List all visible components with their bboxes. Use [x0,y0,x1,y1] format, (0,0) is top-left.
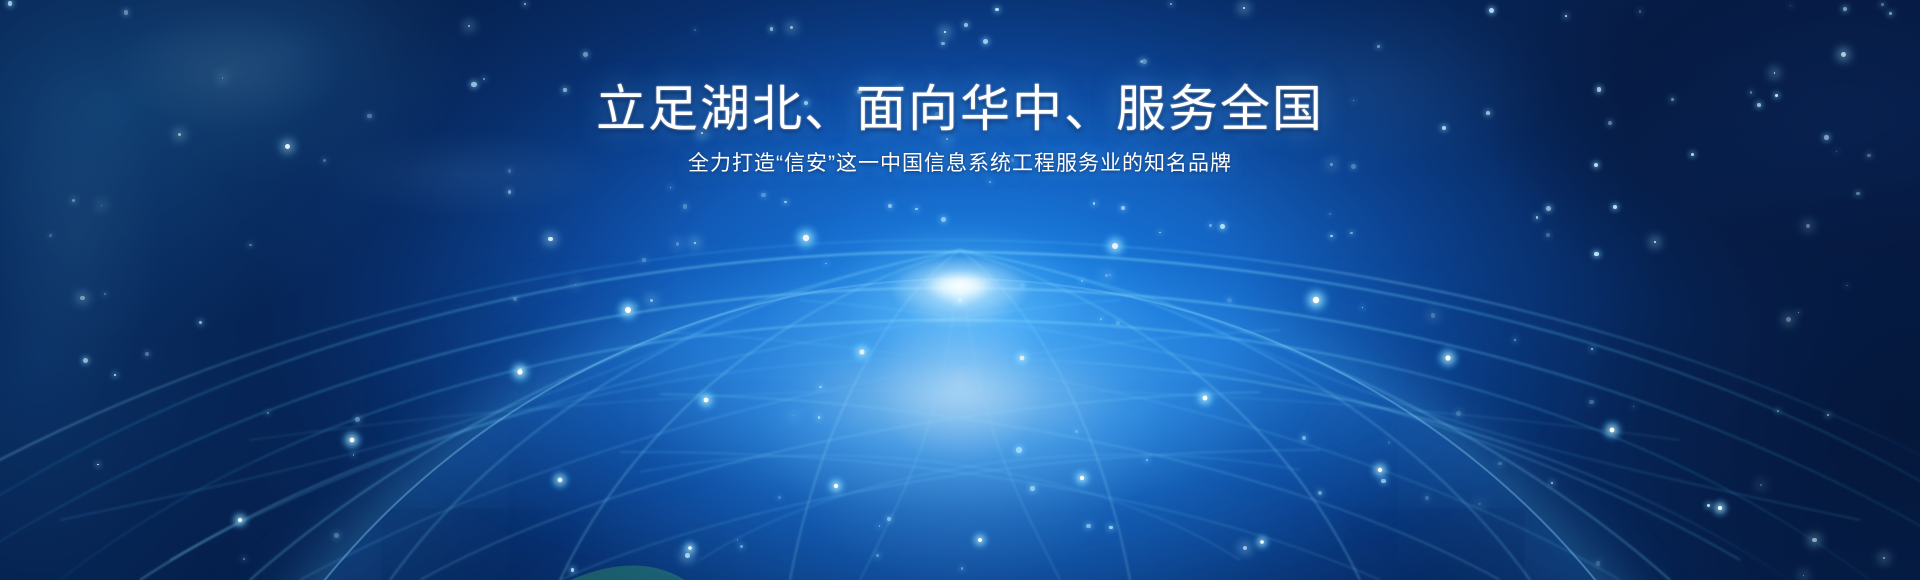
hero-banner: 立足湖北、面向华中、服务全国 全力打造“信安”这一中国信息系统工程服务业的知名品… [0,0,1920,580]
banner-text-block: 立足湖北、面向华中、服务全国 全力打造“信安”这一中国信息系统工程服务业的知名品… [0,82,1920,176]
banner-headline: 立足湖北、面向华中、服务全国 [0,82,1920,137]
banner-subline: 全力打造“信安”这一中国信息系统工程服务业的知名品牌 [0,151,1920,176]
